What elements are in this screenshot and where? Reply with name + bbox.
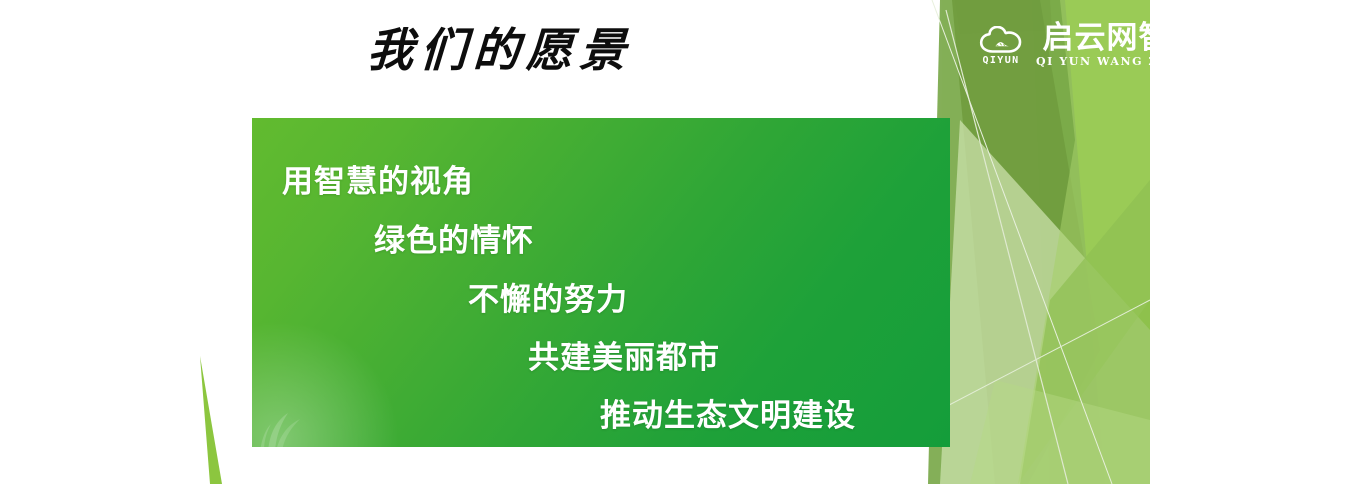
vision-line-4: 共建美丽都市: [528, 342, 720, 373]
presentation-slide: 我们的愿景 QIYUN: [0, 0, 1348, 484]
page-title: 我们的愿景: [0, 26, 1001, 74]
company-logo: QIYUN 启云网智 QI YUN WANG ZHI: [976, 22, 1177, 67]
logo-name-pinyin: QI YUN WANG ZHI: [1036, 56, 1177, 67]
bottom-left-spike-decoration: [196, 356, 236, 484]
vision-content-box: 用智慧的视角 绿色的情怀 不懈的努力 共建美丽都市 推动生态文明建设: [252, 118, 950, 447]
vision-line-2: 绿色的情怀: [374, 225, 534, 256]
logo-name-cn: 启云网智: [1042, 22, 1170, 55]
vision-line-1: 用智慧的视角: [282, 166, 474, 197]
vision-line-5: 推动生态文明建设: [600, 400, 856, 431]
vision-line-list: 用智慧的视角 绿色的情怀 不懈的努力 共建美丽都市 推动生态文明建设: [252, 118, 950, 447]
vision-line-3: 不懈的努力: [468, 284, 628, 315]
logo-wordmark: 启云网智 QI YUN WANG ZHI: [1036, 22, 1177, 67]
